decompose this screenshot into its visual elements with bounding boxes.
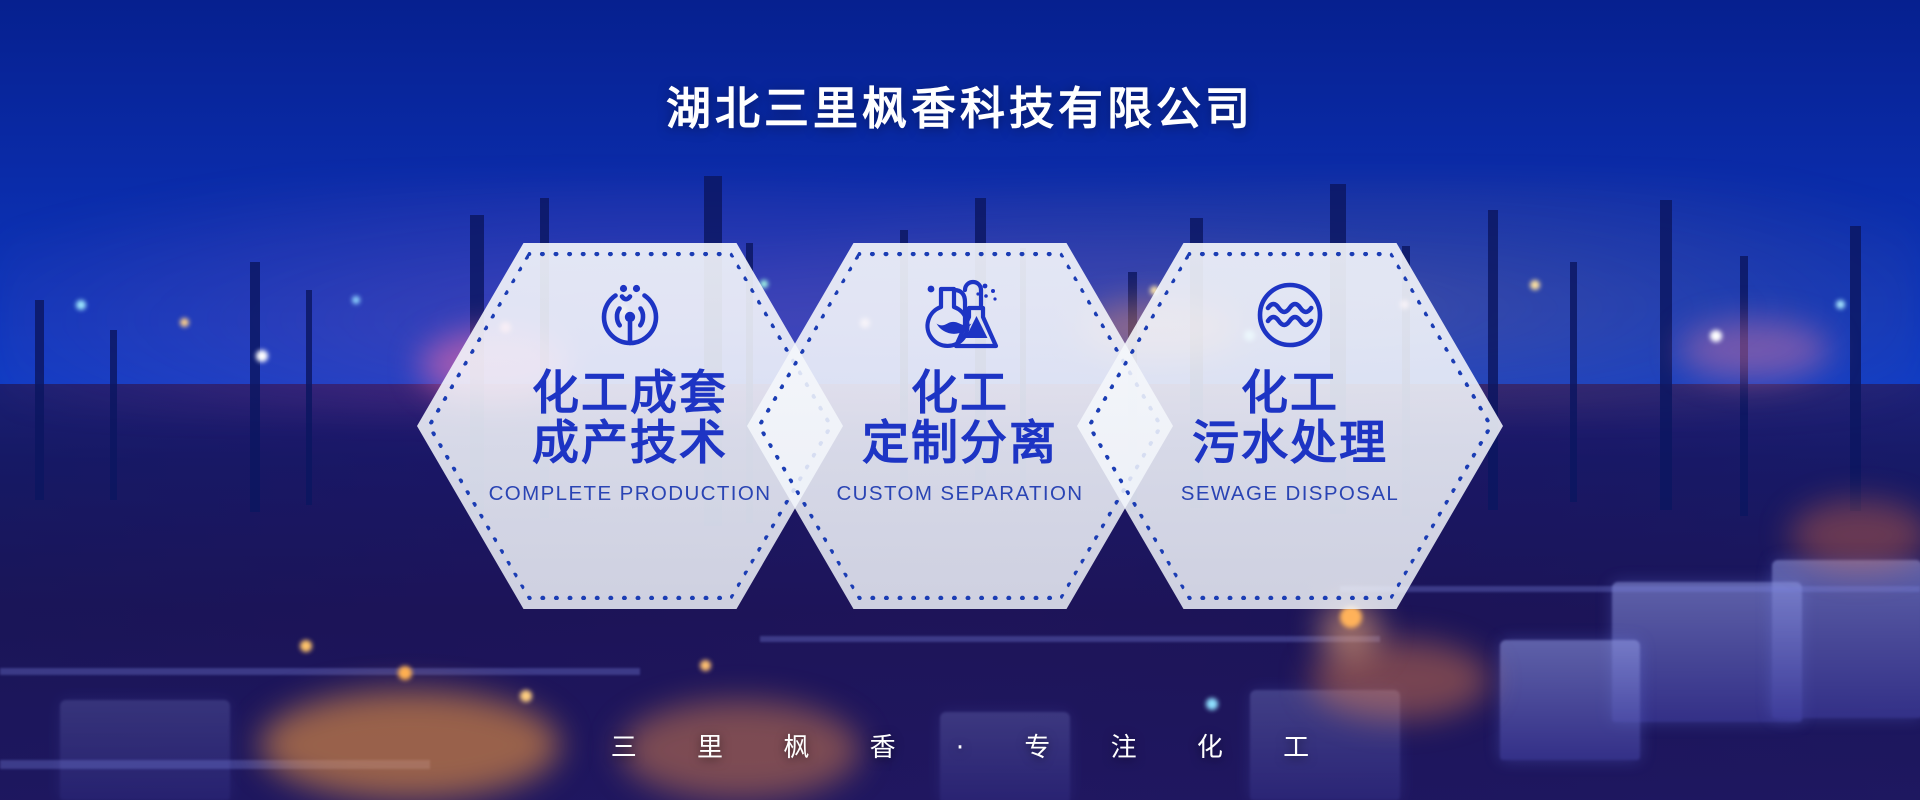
feature-subtitle-en: CUSTOM SEPARATION	[836, 482, 1083, 506]
banner-stage: 湖北三里枫香科技有限公司	[0, 0, 1920, 800]
feature-title-line1: 化工	[1241, 369, 1339, 419]
page-title: 湖北三里枫香科技有限公司	[0, 72, 1920, 137]
feature-subtitle-en: SEWAGE DISPOSAL	[1181, 482, 1399, 506]
broadcast-signal-icon	[590, 273, 670, 357]
feature-hexagon-row: 化工成套 成产技术 COMPLETE PRODUCTION	[0, 243, 1920, 609]
feature-title-line2: 定制分离	[862, 419, 1058, 469]
footer-slogan: 三 里 枫 香 · 专 注 化 工	[0, 727, 1920, 764]
feature-title-line1: 化工	[911, 369, 1009, 419]
feature-subtitle-en: COMPLETE PRODUCTION	[489, 482, 772, 506]
feature-title-line2: 污水处理	[1192, 419, 1388, 469]
feature-title-line1: 化工成套	[532, 369, 728, 419]
lab-flasks-icon	[918, 273, 1002, 357]
feature-title-line2: 成产技术	[532, 419, 728, 469]
feature-card-sewage-disposal[interactable]: 化工 污水处理 SEWAGE DISPOSAL	[1077, 243, 1503, 609]
water-waves-circle-icon	[1250, 273, 1330, 357]
